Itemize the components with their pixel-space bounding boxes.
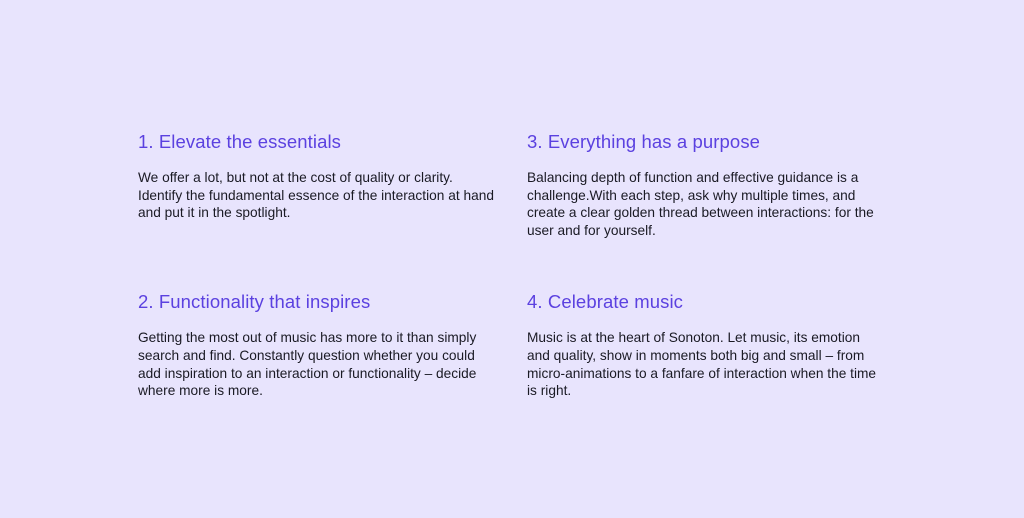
principle-body-1: We offer a lot, but not at the cost of q… [138,169,494,222]
principles-page: 1. Elevate the essentials We offer a lot… [0,0,1024,518]
principle-body-4: Music is at the heart of Sonoton. Let mu… [527,329,886,399]
principle-body-2: Getting the most out of music has more t… [138,329,494,399]
principle-heading-2: 2. Functionality that inspires [138,290,527,314]
principle-heading-3: 3. Everything has a purpose [527,130,888,154]
principle-heading-1: 1. Elevate the essentials [138,130,527,154]
principle-block-3: 3. Everything has a purpose Balancing de… [527,130,888,239]
principle-body-3: Balancing depth of function and effectiv… [527,169,886,239]
principle-block-4: 4. Celebrate music Music is at the heart… [527,290,888,399]
principles-grid: 1. Elevate the essentials We offer a lot… [138,130,888,400]
principle-heading-4: 4. Celebrate music [527,290,888,314]
principle-block-2: 2. Functionality that inspires Getting t… [138,290,527,399]
principle-block-1: 1. Elevate the essentials We offer a lot… [138,130,527,239]
